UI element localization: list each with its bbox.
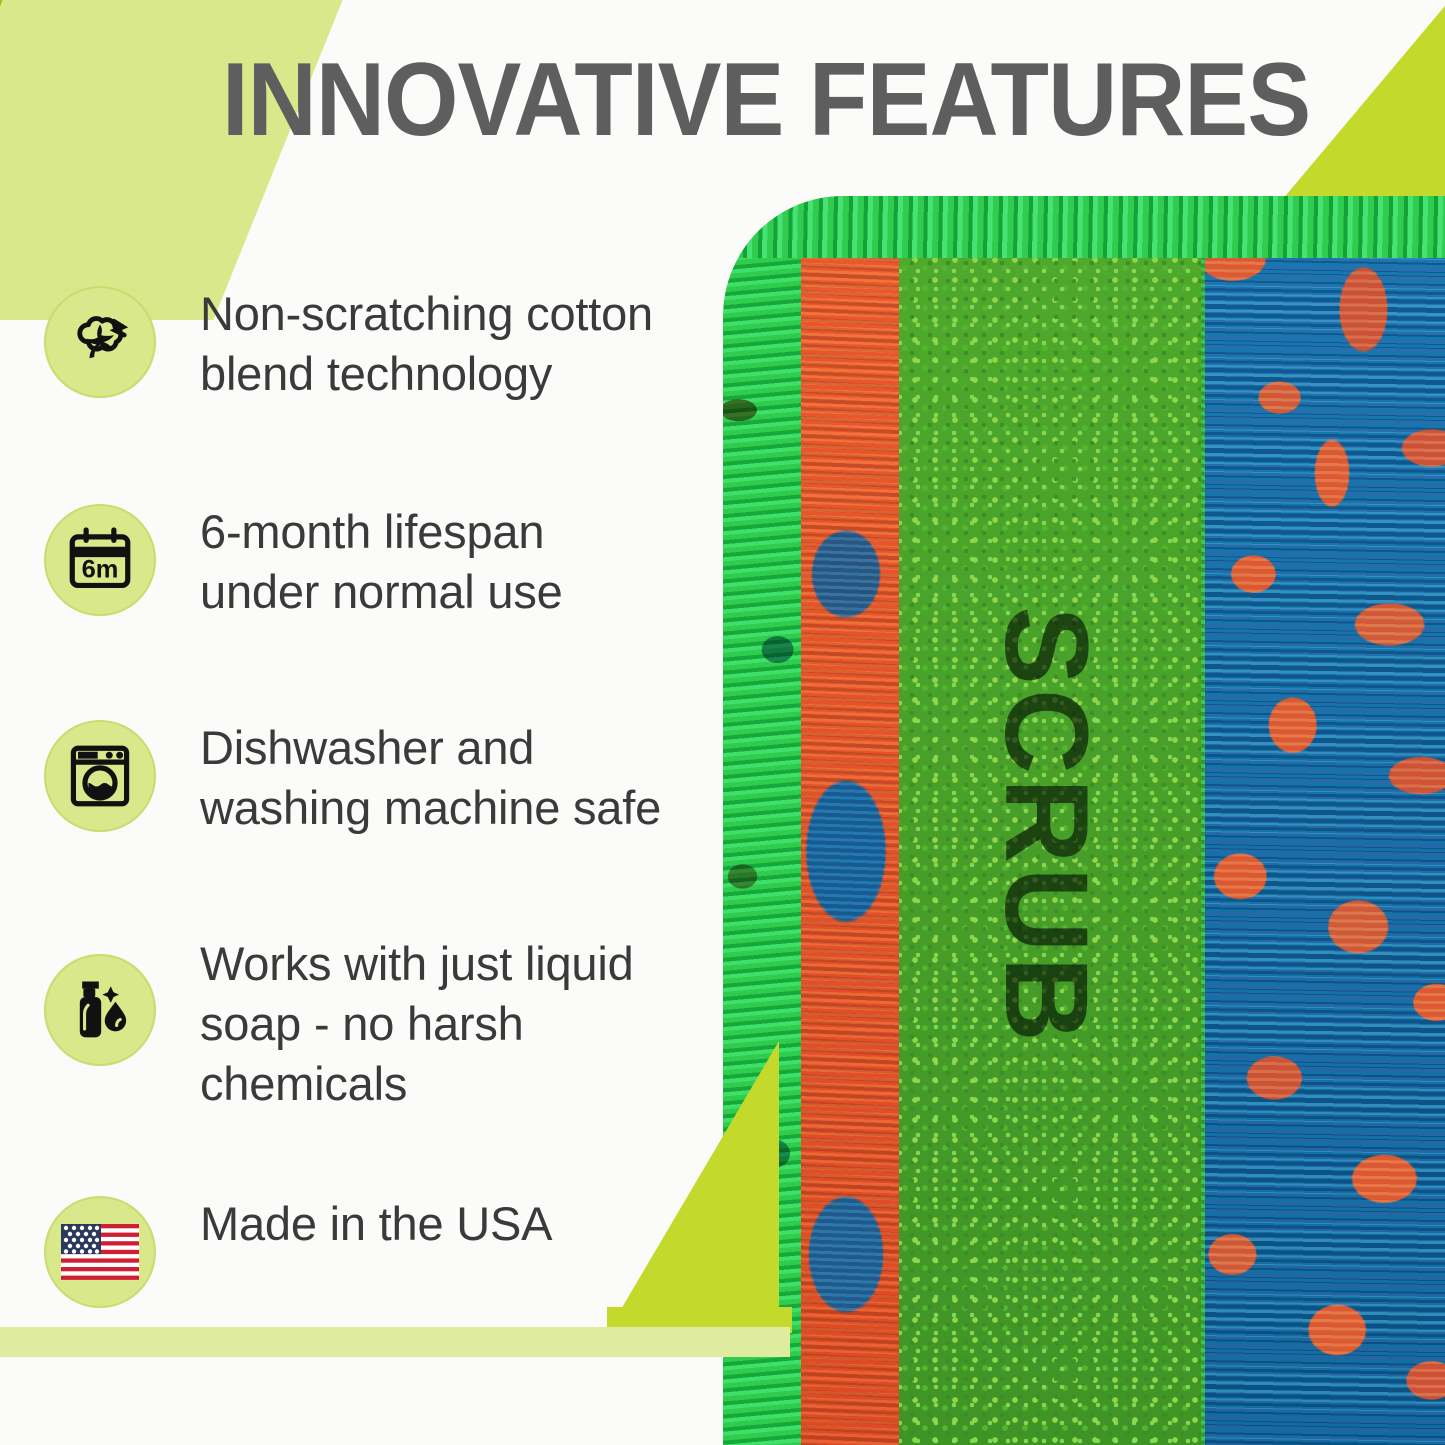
soap-dispenser-droplet-icon [44, 954, 156, 1066]
woven-brand-label: SCRUB [978, 606, 1114, 1046]
infographic-canvas: SCRUB INNOVATIVE FEATURES [0, 0, 1445, 1445]
feature-text: Works with just liquid soap - no harsh c… [200, 932, 634, 1114]
page-title: INNOVATIVE FEATURES [222, 48, 1310, 152]
scrubber-cloth: SCRUB [723, 196, 1445, 1445]
cotton-boll-icon [44, 286, 156, 398]
washing-machine-icon [44, 720, 156, 832]
green-fringe-edge [723, 196, 801, 1445]
feature-line: under normal use [200, 562, 563, 622]
feature-line: washing machine safe [200, 778, 661, 838]
woven-brand-text: SCRUB [891, 196, 1201, 1445]
feature-item: Works with just liquid soap - no harsh c… [44, 932, 724, 1114]
feature-text: Made in the USA [200, 1192, 552, 1254]
feature-line: Dishwasher and [200, 718, 661, 778]
feature-item: Non-scratching cotton blend technology [44, 282, 724, 404]
feature-line: soap - no harsh [200, 994, 634, 1054]
green-fringe-top [723, 196, 1445, 258]
feature-line: Made in the USA [200, 1194, 552, 1254]
calendar-6m-icon: 6m [44, 504, 156, 616]
product-image: SCRUB [723, 196, 1445, 1445]
green-pile-panel: SCRUB [891, 196, 1201, 1445]
usa-flag-icon [44, 1196, 156, 1308]
svg-text:6m: 6m [82, 555, 119, 583]
corner-band-bottom-light [0, 1327, 790, 1357]
feature-line: blend technology [200, 344, 653, 404]
blue-patterned-panel [1201, 196, 1445, 1445]
feature-line: 6-month lifespan [200, 502, 563, 562]
orange-stripe-band [793, 196, 899, 1445]
feature-line: Works with just liquid [200, 934, 634, 994]
feature-item: Made in the USA [44, 1192, 724, 1308]
feature-list: Non-scratching cotton blend technology 6… [44, 282, 724, 1308]
feature-text: 6-month lifespan under normal use [200, 500, 563, 622]
feature-item: Dishwasher and washing machine safe [44, 716, 724, 838]
feature-line: chemicals [200, 1054, 634, 1114]
feature-text: Dishwasher and washing machine safe [200, 716, 661, 838]
feature-item: 6m 6-month lifespan under normal use [44, 500, 724, 622]
feature-text: Non-scratching cotton blend technology [200, 282, 653, 404]
feature-line: Non-scratching cotton [200, 284, 653, 344]
